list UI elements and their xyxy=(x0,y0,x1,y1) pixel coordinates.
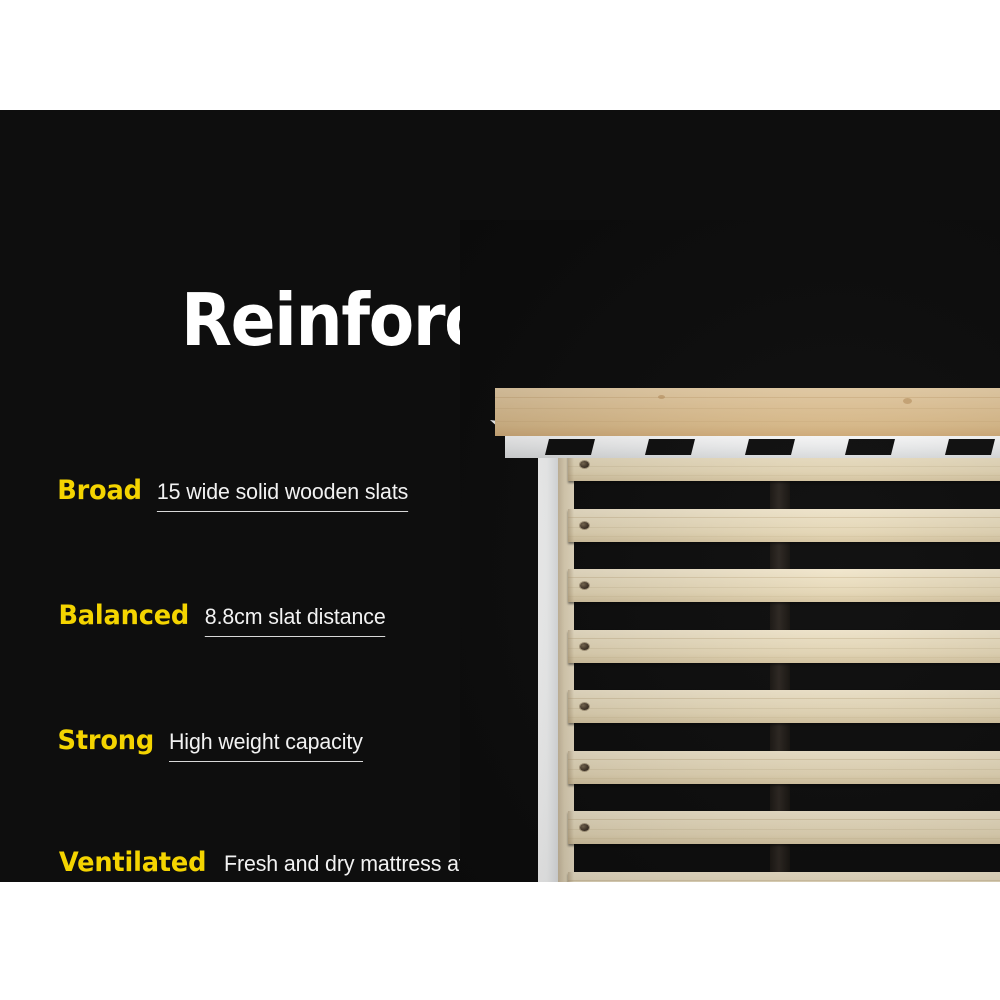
feature-row-balanced: Balanced 8.8cm slat distance xyxy=(55,600,388,637)
wooden-slat xyxy=(568,811,1000,844)
wood-knot xyxy=(658,395,665,399)
corner-post xyxy=(538,425,558,882)
feature-term: Balanced xyxy=(58,600,189,631)
product-feature-image: Reinforced thick slats Broad 15 wide sol… xyxy=(0,0,1000,1000)
screw-icon xyxy=(580,582,589,589)
screw-icon xyxy=(580,461,589,468)
product-photo xyxy=(460,220,1000,882)
feature-description: 15 wide solid wooden slats xyxy=(157,479,408,512)
screw-icon xyxy=(580,522,589,529)
feature-term: Strong xyxy=(58,725,154,756)
wooden-slat xyxy=(568,509,1000,542)
screw-icon xyxy=(580,764,589,771)
rail-notch xyxy=(745,439,795,455)
rail-notch xyxy=(945,439,995,455)
feature-panel: Reinforced thick slats Broad 15 wide sol… xyxy=(0,110,1000,882)
feature-row-strong: Strong High weight capacity xyxy=(55,725,365,762)
head-rail xyxy=(495,388,1000,436)
screw-icon xyxy=(580,824,589,831)
feature-description: 8.8cm slat distance xyxy=(204,604,385,637)
feature-description: High weight capacity xyxy=(169,729,363,762)
frame-top-rail xyxy=(505,436,1000,458)
feature-term: Broad xyxy=(57,475,142,506)
rail-notch xyxy=(545,439,595,455)
feature-term: Ventilated xyxy=(59,847,206,878)
feature-row-broad: Broad 15 wide solid wooden slats xyxy=(55,475,412,512)
wooden-slat xyxy=(568,569,1000,602)
screw-icon xyxy=(580,643,589,650)
wooden-slat xyxy=(568,630,1000,663)
screw-icon xyxy=(580,703,589,710)
wood-knot xyxy=(903,398,912,404)
wooden-slat xyxy=(568,751,1000,784)
rail-notch xyxy=(645,439,695,455)
wooden-slat xyxy=(568,690,1000,723)
wooden-slat xyxy=(568,872,1000,883)
rail-notch xyxy=(845,439,895,455)
